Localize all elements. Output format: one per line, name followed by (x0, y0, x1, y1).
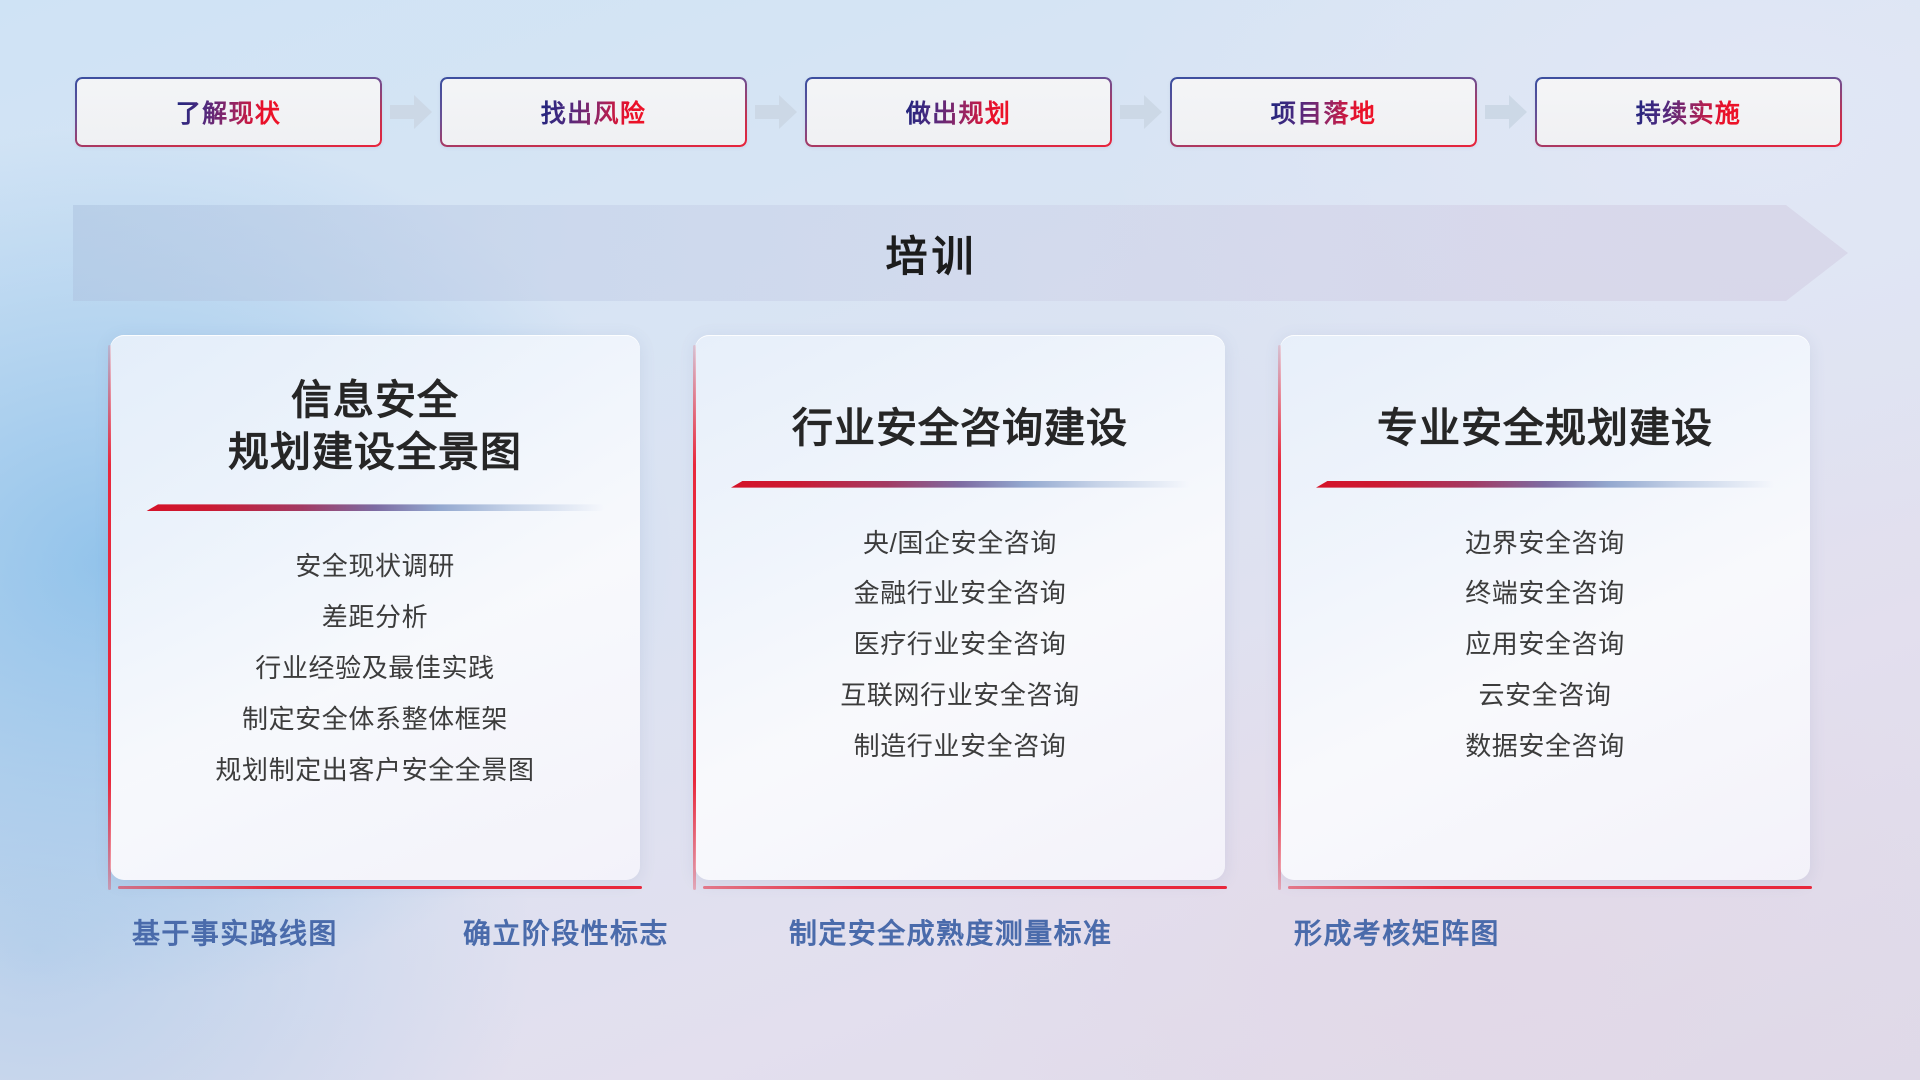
card-title-line: 信息安全 (140, 375, 610, 427)
list-item: 终端安全咨询 (1465, 577, 1625, 611)
card-0[interactable]: 信息安全 规划建设全景图 安全现状调研 差距分析 行业经验及最佳实践 制定安全体… (110, 335, 640, 880)
flow-step-label: 项目落地 (1271, 94, 1377, 130)
card-item-list: 边界安全咨询 终端安全咨询 应用安全咨询 云安全咨询 数据安全咨询 (1310, 527, 1780, 764)
flow-step-label: 持续实施 (1636, 94, 1742, 130)
flow-arrow-1 (747, 77, 805, 147)
card-divider (731, 481, 1189, 489)
flow-step-1[interactable]: 找出风险 (440, 77, 747, 147)
card-item-list: 安全现状调研 差距分析 行业经验及最佳实践 制定安全体系整体框架 规划制定出客户… (140, 550, 610, 787)
flow-step-3[interactable]: 项目落地 (1170, 77, 1477, 147)
banner-title: 培训 (73, 205, 1848, 301)
flow-arrow-3 (1477, 77, 1535, 147)
flow-arrow-2 (1112, 77, 1170, 147)
list-item: 行业经验及最佳实践 (255, 652, 494, 686)
caption-1: 确立阶段性标志 (463, 912, 669, 952)
flow-arrow-0 (382, 77, 440, 147)
card-1[interactable]: 行业安全咨询建设 央/国企安全咨询 金融行业安全咨询 医疗行业安全咨询 互联网行… (695, 335, 1225, 880)
card-title: 信息安全 规划建设全景图 (140, 375, 610, 478)
flow-step-2[interactable]: 做出规划 (805, 77, 1112, 147)
card-title: 专业安全规划建设 (1310, 403, 1780, 455)
flow-step-label: 做出规划 (906, 94, 1012, 130)
flow-step-4[interactable]: 持续实施 (1535, 77, 1842, 147)
list-item: 应用安全咨询 (1465, 628, 1625, 662)
flow-step-0[interactable]: 了解现状 (75, 77, 382, 147)
caption-2: 制定安全成熟度测量标准 (789, 912, 1112, 952)
card-divider (1316, 481, 1774, 489)
list-item: 规划制定出客户安全全景图 (215, 754, 534, 788)
list-item: 差距分析 (322, 601, 428, 635)
caption-row: 基于事实路线图 确立阶段性标志 制定安全成熟度测量标准 形成考核矩阵图 (0, 912, 1920, 968)
list-item: 边界安全咨询 (1465, 527, 1625, 561)
flow-step-label: 找出风险 (541, 94, 647, 130)
card-title-line: 规划建设全景图 (140, 427, 610, 479)
list-item: 云安全咨询 (1478, 679, 1611, 713)
list-item: 制定安全体系整体框架 (242, 703, 508, 737)
card-title-line: 专业安全规划建设 (1310, 403, 1780, 455)
card-divider (146, 504, 604, 512)
list-item: 互联网行业安全咨询 (840, 679, 1079, 713)
list-item: 数据安全咨询 (1465, 730, 1625, 764)
list-item: 金融行业安全咨询 (854, 577, 1067, 611)
list-item: 央/国企安全咨询 (863, 527, 1057, 561)
card-title-line: 行业安全咨询建设 (725, 403, 1195, 455)
list-item: 医疗行业安全咨询 (854, 628, 1067, 662)
card-2[interactable]: 专业安全规划建设 边界安全咨询 终端安全咨询 应用安全咨询 云安全咨询 数据安全… (1280, 335, 1810, 880)
card-row: 信息安全 规划建设全景图 安全现状调研 差距分析 行业经验及最佳实践 制定安全体… (110, 335, 1810, 890)
card-title: 行业安全咨询建设 (725, 403, 1195, 455)
process-flow-row: 了解现状 找出风险 做出规划 项目落地 持续实施 (75, 77, 1845, 147)
training-banner: 培训 (73, 205, 1848, 301)
caption-0: 基于事实路线图 (132, 912, 338, 952)
list-item: 制造行业安全咨询 (854, 730, 1067, 764)
list-item: 安全现状调研 (295, 550, 455, 584)
flow-step-label: 了解现状 (176, 94, 282, 130)
card-item-list: 央/国企安全咨询 金融行业安全咨询 医疗行业安全咨询 互联网行业安全咨询 制造行… (725, 527, 1195, 764)
caption-3: 形成考核矩阵图 (1294, 912, 1500, 952)
